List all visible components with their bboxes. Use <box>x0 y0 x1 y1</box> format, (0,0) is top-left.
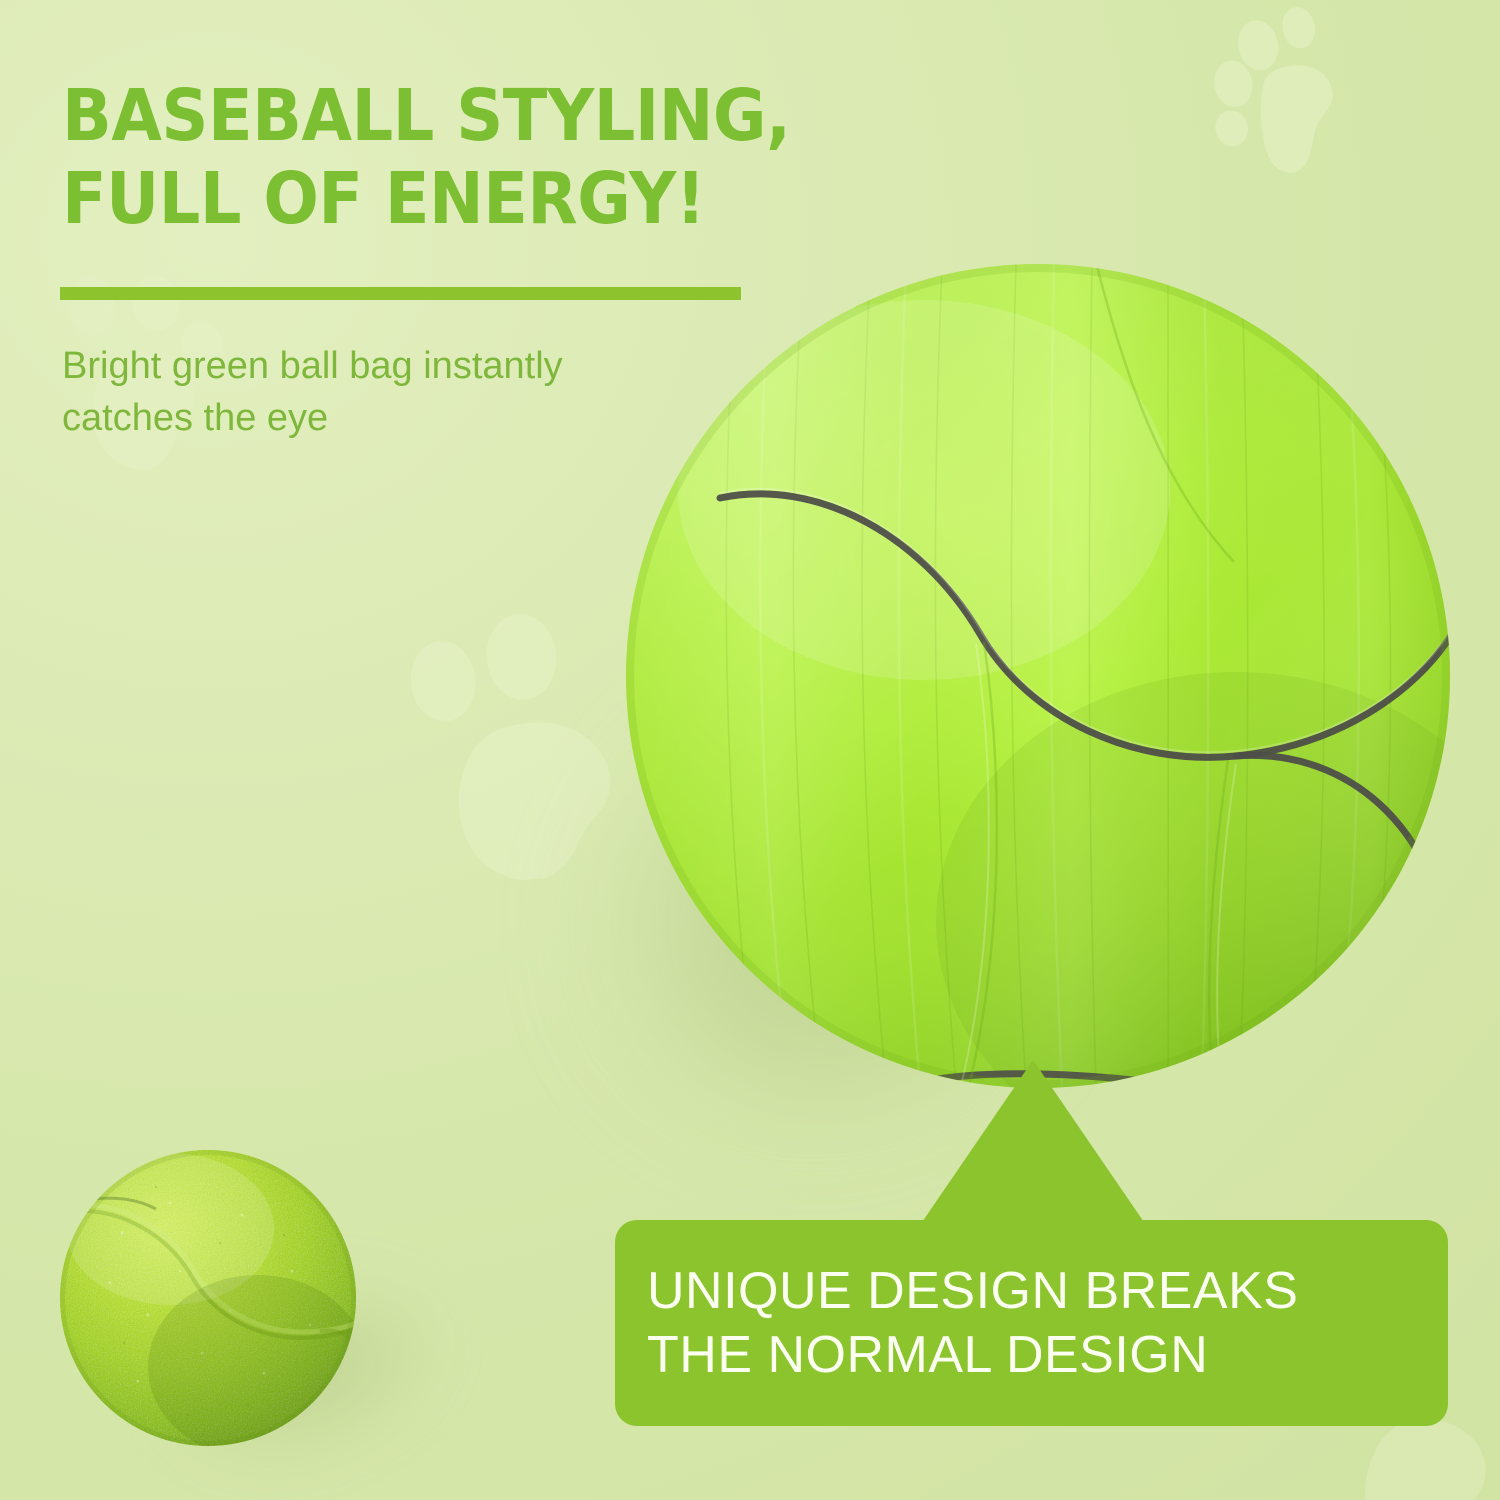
callout-line-1: UNIQUE DESIGN BREAKS <box>647 1259 1298 1323</box>
divider-bar <box>60 287 741 300</box>
subtitle-line-2: catches the eye <box>62 392 722 444</box>
headline-line-2: FULL OF ENERGY! <box>62 157 816 240</box>
subtitle-block: Bright green ball bag instantly catches … <box>62 340 722 444</box>
paw-print-top-right-icon <box>1191 0 1404 201</box>
headline-line-1: BASEBALL STYLING, <box>62 74 816 157</box>
callout-line-2: THE NORMAL DESIGN <box>647 1323 1208 1387</box>
headline-block: BASEBALL STYLING, FULL OF ENERGY! <box>62 74 882 240</box>
callout-pointer-triangle <box>918 1060 1148 1228</box>
hero-ball-image <box>624 262 1452 1090</box>
subtitle-line-1: Bright green ball bag instantly <box>62 340 722 392</box>
feature-graphic-canvas: BASEBALL STYLING, FULL OF ENERGY! Bright… <box>0 0 1500 1500</box>
callout-banner: UNIQUE DESIGN BREAKS THE NORMAL DESIGN <box>615 1220 1448 1426</box>
reference-ball-image <box>52 1143 370 1449</box>
